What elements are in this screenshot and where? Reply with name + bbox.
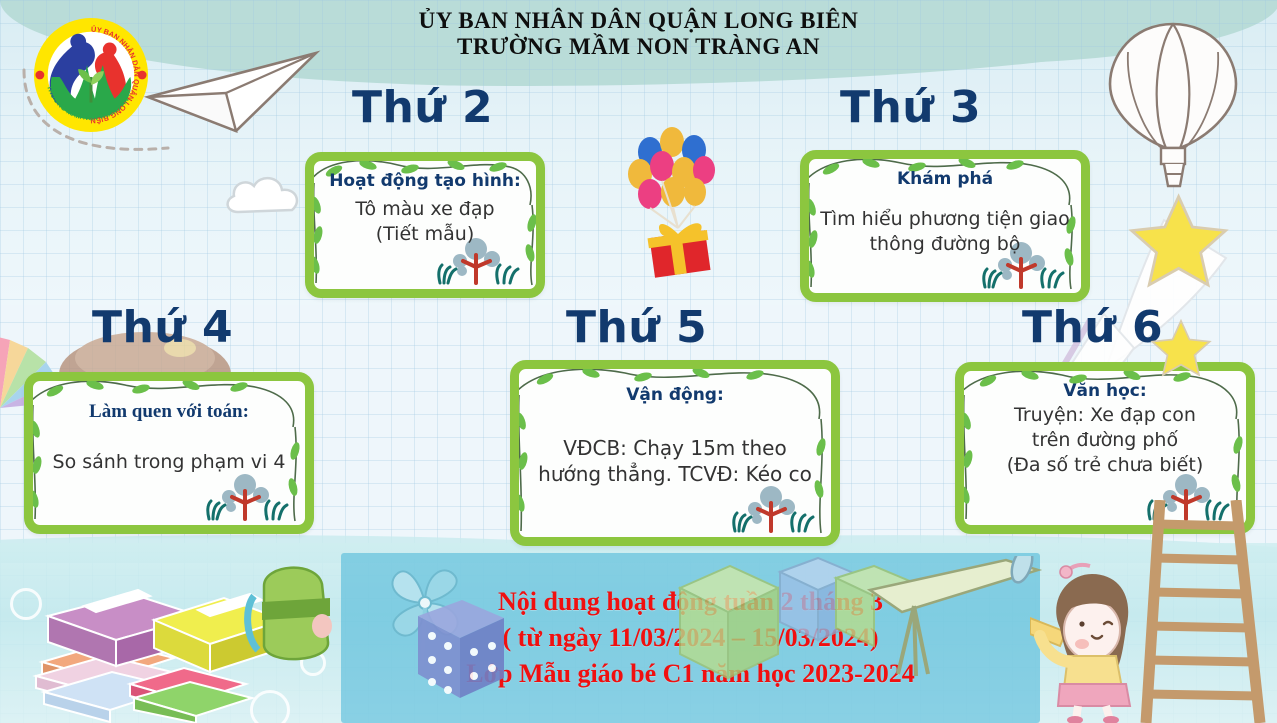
girl-with-telescope-icon [1030,552,1160,723]
card-body-line: thông đường bộ [820,232,1070,257]
card-body-line: VĐCB: Chạy 15m theo [538,435,812,461]
card-body-line: trên đường phố [1007,428,1203,453]
card-body-thu-4: So sánh trong phạm vi 4 [43,450,296,475]
card-body-line: Tô màu xe đạp [355,197,494,222]
school-logo: ỦY BAN NHÂN DÂN QUẬN LONG BIÊN TRƯỜNG MẦ… [32,16,150,134]
day-title-thu-5: Thứ 5 [566,302,707,353]
card-body-thu-6: Truyện: Xe đạp con trên đường phố (Đa số… [997,403,1213,477]
cloud-icon [216,160,312,230]
day-title-thu-2: Thứ 2 [352,82,493,133]
backpack-icon [238,546,358,686]
card-subject-thu-4: Làm quen với toán: [89,401,249,424]
card-body-thu-2: Tô màu xe đạp (Tiết mẫu) [345,197,504,246]
day-title-thu-4: Thứ 4 [92,302,233,353]
day-title-thu-6: Thứ 6 [1022,302,1163,353]
day-card-thu-3[interactable]: Khám phá Tìm hiểu phương tiện giao thông… [800,150,1090,302]
card-body-line: (Đa số trẻ chưa biết) [1007,453,1203,478]
card-subject-thu-2: Hoạt động tạo hình: [329,171,521,191]
telescope-icon [858,556,1048,686]
card-body-line: hướng thẳng. TCVĐ: Kéo co [538,461,812,487]
card-subject-thu-3: Khám phá [897,169,993,189]
tree-grass-icon [725,485,817,533]
balloons-with-gift-icon [620,122,740,282]
card-subject-thu-5: Vận động: [626,385,724,405]
dice-icon [404,588,514,708]
header-line-1: ỦY BAN NHÂN DÂN QUẬN LONG BIÊN [0,8,1277,34]
card-body-line: Truyện: Xe đạp con [1007,403,1203,428]
ladder-icon [1140,500,1277,723]
card-body-thu-3: Tìm hiểu phương tiện giao thông đường bộ [810,207,1080,256]
header-line-2: TRƯỜNG MẦM NON TRÀNG AN [0,34,1277,60]
card-body-line: Tìm hiểu phương tiện giao [820,207,1070,232]
day-card-thu-5[interactable]: Vận động: VĐCB: Chạy 15m theo hướng thẳn… [510,360,840,546]
weekly-activity-poster: ỦY BAN NHÂN DÂN QUẬN LONG BIÊN TRƯỜNG MẦ… [0,0,1277,723]
card-body-line: (Tiết mẫu) [355,222,494,247]
day-title-thu-3: Thứ 3 [840,82,981,133]
card-subject-thu-6: Văn học: [1063,381,1146,401]
day-card-thu-4[interactable]: Làm quen với toán: So sánh trong phạm vi… [24,372,314,534]
card-body-thu-5: VĐCB: Chạy 15m theo hướng thẳng. TCVĐ: K… [528,435,822,487]
day-card-thu-2[interactable]: Hoạt động tạo hình: Tô màu xe đạp (Tiết … [305,152,545,298]
poster-header: ỦY BAN NHÂN DÂN QUẬN LONG BIÊN TRƯỜNG MẦ… [0,8,1277,61]
tree-grass-icon [199,473,291,521]
star-icon [1150,318,1212,380]
card-body-line: So sánh trong phạm vi 4 [53,450,286,475]
